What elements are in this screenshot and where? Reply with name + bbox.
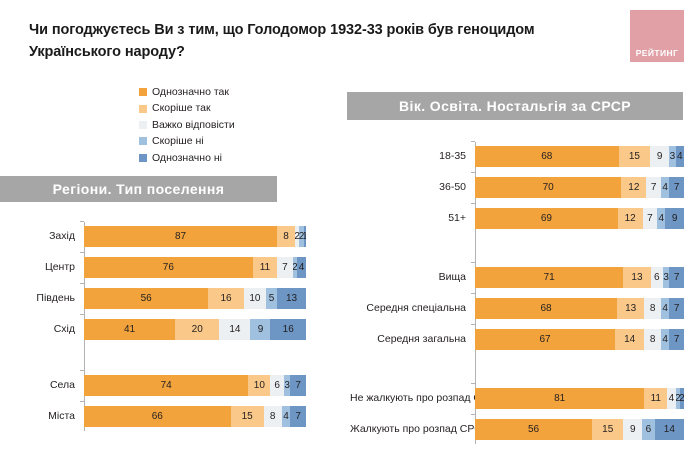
bar-segment[interactable]: 8 bbox=[644, 298, 661, 319]
bar-segment[interactable]: 4 bbox=[282, 406, 291, 427]
bar-segment[interactable]: 87 bbox=[84, 226, 277, 247]
bar-segment-value: 9 bbox=[657, 152, 663, 162]
bar-segment-value: 13 bbox=[631, 273, 642, 283]
bar-segment-value: 76 bbox=[163, 263, 174, 273]
bar-segment-value: 7 bbox=[295, 412, 301, 422]
bar-segment[interactable]: 4 bbox=[661, 329, 669, 350]
bar-segment-value: 71 bbox=[544, 273, 555, 283]
rating-logo-text: РЕЙТИНГ bbox=[636, 48, 679, 58]
axis-tick bbox=[80, 401, 84, 402]
bar-segment-value: 7 bbox=[674, 183, 680, 193]
legend-swatch-icon bbox=[139, 137, 147, 145]
bar-segment-value: 9 bbox=[672, 214, 678, 224]
bar-segment-value: 4 bbox=[299, 263, 305, 273]
legend-item[interactable]: Однозначно так bbox=[139, 84, 319, 100]
axis-tick bbox=[471, 262, 475, 263]
bar-segment[interactable]: 8 bbox=[277, 226, 295, 247]
bar-segment[interactable]: 14 bbox=[219, 319, 250, 340]
bar-category-label: 51+ bbox=[350, 208, 466, 229]
bar-segment-value: 8 bbox=[650, 335, 656, 345]
bar-segment-value: 7 bbox=[674, 335, 680, 345]
bar-segment[interactable]: 69 bbox=[475, 208, 618, 229]
bar-segment-value: 4 bbox=[658, 214, 664, 224]
bar-segment-value: 7 bbox=[651, 183, 657, 193]
bar-segment[interactable]: 7 bbox=[290, 406, 306, 427]
stacked-bar-row[interactable]: 6615847 bbox=[84, 406, 306, 427]
bar-segment[interactable]: 7 bbox=[646, 177, 661, 198]
stacked-bar-row[interactable]: 6815934 bbox=[475, 146, 684, 167]
bar-segment[interactable]: 9 bbox=[650, 146, 669, 167]
stacked-bar-row[interactable]: 412014916 bbox=[84, 319, 306, 340]
bar-category-label: Захід bbox=[0, 226, 75, 247]
stacked-bar-row[interactable]: 878221 bbox=[84, 226, 306, 247]
legend-swatch-icon bbox=[139, 88, 147, 96]
bar-segment[interactable]: 12 bbox=[621, 177, 646, 198]
bar-segment-value: 81 bbox=[554, 394, 565, 404]
legend-item-label: Однозначно ні bbox=[152, 153, 222, 164]
legend-item-label: Скоріше ні bbox=[152, 136, 204, 147]
bar-segment-value: 14 bbox=[229, 325, 240, 335]
bar-segment-value: 10 bbox=[249, 294, 260, 304]
bar-segment-value: 15 bbox=[242, 412, 253, 422]
axis-tick bbox=[471, 324, 475, 325]
bar-segment-value: 68 bbox=[541, 152, 552, 162]
bar-category-label: Середня загальна bbox=[350, 329, 466, 350]
axis-tick bbox=[80, 252, 84, 253]
bar-segment[interactable]: 5 bbox=[266, 288, 277, 309]
bar-segment-value: 12 bbox=[625, 214, 636, 224]
bar-category-label: Міста bbox=[0, 406, 75, 427]
bar-segment-value: 14 bbox=[624, 335, 635, 345]
bar-segment[interactable]: 14 bbox=[655, 419, 684, 440]
bar-segment-value: 87 bbox=[175, 232, 186, 242]
bar-segment[interactable]: 70 bbox=[475, 177, 621, 198]
axis-tick bbox=[471, 203, 475, 204]
bar-segment[interactable]: 9 bbox=[623, 419, 642, 440]
bar-segment[interactable]: 12 bbox=[618, 208, 643, 229]
axis-tick bbox=[471, 383, 475, 384]
bar-segment-value: 70 bbox=[543, 183, 554, 193]
section-header-regions: Регіони. Тип поселення bbox=[0, 176, 277, 202]
bar-category-label: Південь bbox=[0, 288, 75, 309]
legend-item-label: Важко відповісти bbox=[152, 120, 235, 131]
axis-tick bbox=[471, 172, 475, 173]
bar-segment[interactable]: 2 bbox=[680, 388, 684, 409]
bar-segment-value: 56 bbox=[141, 294, 152, 304]
bar-segment[interactable]: 4 bbox=[297, 257, 306, 278]
bar-segment-value: 20 bbox=[192, 325, 203, 335]
bar-category-label: Центр bbox=[0, 257, 75, 278]
section-header-age-education: Вік. Освіта. Ностальгія за СРСР bbox=[347, 92, 683, 120]
bar-segment[interactable]: 8 bbox=[644, 329, 661, 350]
bar-segment[interactable]: 4 bbox=[676, 146, 684, 167]
bar-segment-value: 14 bbox=[664, 425, 675, 435]
rating-logo: РЕЙТИНГ bbox=[630, 10, 684, 62]
section-header-regions-label: Регіони. Тип поселення bbox=[53, 181, 225, 197]
bar-segment-value: 10 bbox=[254, 381, 265, 391]
stacked-bar-row[interactable]: 7611724 bbox=[84, 257, 306, 278]
axis-tick bbox=[471, 414, 475, 415]
bar-category-label: 18-35 bbox=[350, 146, 466, 167]
bar-segment-value: 6 bbox=[646, 425, 652, 435]
bar-segment[interactable]: 67 bbox=[475, 329, 615, 350]
legend-swatch-icon bbox=[139, 154, 147, 162]
bar-segment[interactable]: 13 bbox=[617, 298, 644, 319]
stacked-bar-row[interactable]: 6714847 bbox=[475, 329, 684, 350]
axis-tick bbox=[471, 293, 475, 294]
bar-segment[interactable]: 16 bbox=[270, 319, 306, 340]
bar-segment-value: 66 bbox=[152, 412, 163, 422]
stacked-bar-row[interactable]: 6912749 bbox=[475, 208, 684, 229]
bar-segment[interactable]: 7 bbox=[669, 177, 684, 198]
stacked-bar-row[interactable]: 56159614 bbox=[475, 419, 684, 440]
legend-item[interactable]: Скоріше так bbox=[139, 100, 319, 116]
bar-segment[interactable]: 15 bbox=[231, 406, 264, 427]
section-header-age-education-label: Вік. Освіта. Ностальгія за СРСР bbox=[399, 98, 631, 114]
bar-segment[interactable]: 7 bbox=[277, 257, 293, 278]
bar-segment[interactable]: 14 bbox=[615, 329, 644, 350]
bar-segment-value: 7 bbox=[674, 304, 680, 314]
bar-segment-value: 7 bbox=[674, 273, 680, 283]
bar-segment-value: 4 bbox=[662, 335, 668, 345]
bar-segment[interactable]: 4 bbox=[661, 298, 669, 319]
bar-category-label: Схід bbox=[0, 319, 75, 340]
bar-segment[interactable]: 7 bbox=[669, 329, 684, 350]
bar-segment[interactable]: 15 bbox=[592, 419, 623, 440]
bar-segment[interactable]: 6 bbox=[642, 419, 655, 440]
bar-segment-value: 68 bbox=[540, 304, 551, 314]
bar-segment-value: 9 bbox=[630, 425, 636, 435]
bar-category-label: Вища bbox=[350, 267, 466, 288]
bar-segment[interactable]: 6 bbox=[651, 267, 664, 288]
bar-segment-value: 4 bbox=[669, 394, 675, 404]
axis-tick bbox=[80, 283, 84, 284]
bar-segment-value: 11 bbox=[651, 394, 661, 404]
chart-legend: Однозначно такСкоріше такВажко відповіст… bbox=[139, 84, 319, 166]
bar-segment[interactable]: 68 bbox=[475, 146, 619, 167]
legend-item[interactable]: Скоріше ні bbox=[139, 133, 319, 149]
bar-segment[interactable]: 74 bbox=[84, 375, 248, 396]
stacked-bar-row[interactable]: 7113637 bbox=[475, 267, 684, 288]
bar-segment-value: 7 bbox=[647, 214, 653, 224]
bar-segment[interactable]: 11 bbox=[253, 257, 277, 278]
bar-segment[interactable]: 66 bbox=[84, 406, 231, 427]
bar-segment-value: 41 bbox=[124, 325, 135, 335]
bar-segment-value: 8 bbox=[283, 232, 289, 242]
chart-age-education-nostalgia: 18-35681593436-50701274751+6912749Вища71… bbox=[350, 134, 690, 464]
bar-segment-value: 69 bbox=[541, 214, 552, 224]
bar-segment[interactable]: 71 bbox=[475, 267, 623, 288]
bar-segment[interactable]: 16 bbox=[208, 288, 244, 309]
bar-segment[interactable]: 10 bbox=[248, 375, 270, 396]
bar-segment-value: 7 bbox=[295, 381, 301, 391]
legend-item-label: Скоріше так bbox=[152, 103, 211, 114]
axis-tick bbox=[80, 221, 84, 222]
bar-segment[interactable]: 68 bbox=[475, 298, 617, 319]
axis-tick bbox=[471, 141, 475, 142]
bar-segment[interactable]: 1 bbox=[304, 226, 306, 247]
bar-segment-value: 6 bbox=[274, 381, 280, 391]
bar-segment[interactable]: 7 bbox=[290, 375, 306, 396]
bar-segment-value: 4 bbox=[283, 412, 289, 422]
bar-segment[interactable]: 56 bbox=[84, 288, 208, 309]
bar-segment-value: 4 bbox=[677, 152, 683, 162]
bar-segment[interactable]: 41 bbox=[84, 319, 175, 340]
bar-category-label: Середня спеціальна bbox=[350, 298, 466, 319]
bar-segment[interactable]: 15 bbox=[619, 146, 651, 167]
bar-segment-value: 15 bbox=[629, 152, 640, 162]
bar-segment[interactable]: 56 bbox=[475, 419, 592, 440]
bar-segment[interactable]: 7 bbox=[669, 298, 684, 319]
legend-item-label: Однозначно так bbox=[152, 87, 229, 98]
bar-category-label: 36-50 bbox=[350, 177, 466, 198]
bar-category-label: Жалкують про розпад СРСР bbox=[350, 419, 466, 440]
bar-segment-value: 4 bbox=[662, 183, 668, 193]
bar-category-label: Не жалкують про розпад СРСР bbox=[350, 388, 466, 409]
bar-segment[interactable]: 9 bbox=[250, 319, 270, 340]
bar-segment-value: 9 bbox=[258, 325, 264, 335]
bar-segment[interactable]: 10 bbox=[244, 288, 266, 309]
bar-segment[interactable]: 76 bbox=[84, 257, 253, 278]
axis-tick bbox=[80, 370, 84, 371]
bar-segment-value: 56 bbox=[528, 425, 539, 435]
bar-segment-value: 11 bbox=[260, 263, 270, 273]
bar-segment-value: 15 bbox=[602, 425, 613, 435]
bar-segment-value: 6 bbox=[654, 273, 660, 283]
stacked-bar-row[interactable]: 7410637 bbox=[84, 375, 306, 396]
bar-segment-value: 5 bbox=[269, 294, 275, 304]
stacked-bar-row[interactable]: 6813847 bbox=[475, 298, 684, 319]
bar-segment[interactable]: 20 bbox=[175, 319, 219, 340]
chart-regions-settlement: Захід878221Центр7611724Південь561610513С… bbox=[0, 212, 330, 460]
bar-segment[interactable]: 13 bbox=[623, 267, 650, 288]
legend-swatch-icon bbox=[139, 105, 147, 113]
bar-segment[interactable]: 8 bbox=[264, 406, 282, 427]
page-title: Чи погоджуєтесь Ви з тим, що Голодомор 1… bbox=[29, 19, 599, 64]
bar-segment-value: 1 bbox=[304, 232, 306, 242]
stacked-bar-row[interactable]: 8111422 bbox=[475, 388, 684, 409]
bar-segment-value: 2 bbox=[680, 394, 684, 404]
bar-segment[interactable]: 9 bbox=[665, 208, 684, 229]
bar-segment-value: 67 bbox=[539, 335, 550, 345]
bar-segment-value: 3 bbox=[284, 381, 290, 391]
bar-segment-value: 13 bbox=[286, 294, 297, 304]
axis-tick bbox=[80, 314, 84, 315]
bar-segment-value: 13 bbox=[625, 304, 636, 314]
bar-category-label: Села bbox=[0, 375, 75, 396]
bar-segment[interactable]: 4 bbox=[657, 208, 665, 229]
legend-item[interactable]: Однозначно ні bbox=[139, 150, 319, 166]
bar-segment[interactable]: 4 bbox=[661, 177, 669, 198]
bar-segment[interactable]: 7 bbox=[669, 267, 684, 288]
bar-segment[interactable]: 11 bbox=[644, 388, 667, 409]
bar-segment[interactable]: 13 bbox=[277, 288, 306, 309]
bar-segment-value: 16 bbox=[221, 294, 232, 304]
bar-segment[interactable]: 6 bbox=[270, 375, 283, 396]
bar-segment-value: 3 bbox=[670, 152, 676, 162]
bar-segment[interactable]: 7 bbox=[643, 208, 657, 229]
bar-segment[interactable]: 81 bbox=[475, 388, 644, 409]
bar-segment-value: 3 bbox=[663, 273, 669, 283]
bar-segment-value: 8 bbox=[270, 412, 276, 422]
bar-segment[interactable]: 3 bbox=[284, 375, 291, 396]
bar-segment-value: 7 bbox=[282, 263, 288, 273]
stacked-bar-row[interactable]: 561610513 bbox=[84, 288, 306, 309]
bar-segment-value: 8 bbox=[650, 304, 656, 314]
bar-segment-value: 12 bbox=[628, 183, 639, 193]
bar-segment-value: 74 bbox=[161, 381, 172, 391]
bar-segment-value: 4 bbox=[662, 304, 668, 314]
stacked-bar-row[interactable]: 7012747 bbox=[475, 177, 684, 198]
legend-item[interactable]: Важко відповісти bbox=[139, 117, 319, 133]
bar-segment-value: 16 bbox=[283, 325, 294, 335]
legend-swatch-icon bbox=[139, 121, 147, 129]
bar-segment[interactable]: 4 bbox=[667, 388, 675, 409]
